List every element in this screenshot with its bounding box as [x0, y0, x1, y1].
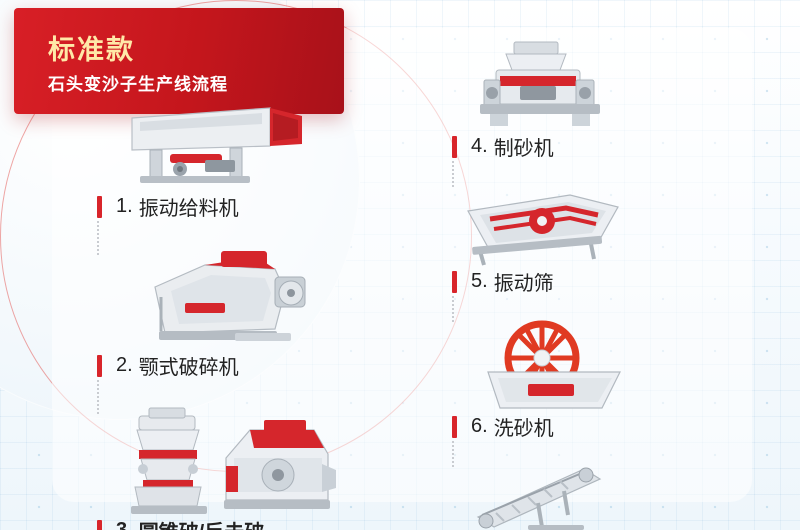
sand-washer-icon: [470, 320, 640, 412]
sand-making-machine-icon: [460, 40, 620, 132]
process-step-1[interactable]: 1. 振动给料机: [95, 100, 425, 221]
vibrating-feeder-image: [95, 100, 425, 192]
vibrating-screen-image: [450, 185, 780, 267]
process-step-1-label: 1. 振动给料机: [95, 192, 425, 221]
cone-crusher-icon: [113, 406, 223, 516]
step-4-text: 制砂机: [494, 132, 554, 161]
process-step-2[interactable]: 2. 颚式破碎机: [95, 247, 425, 380]
step-3-index: 3.: [116, 519, 133, 530]
process-step-5-label: 5. 振动筛: [450, 267, 780, 296]
process-step-4-label: 4. 制砂机: [450, 132, 780, 161]
flowchart-page: 标准款 石头变沙子生产线流程: [0, 0, 800, 530]
step-1-text: 振动给料机: [139, 192, 239, 221]
step-5-text: 振动筛: [494, 267, 554, 296]
step-1-index: 1.: [116, 195, 133, 218]
process-step-7[interactable]: 7. 输送机: [450, 463, 780, 530]
step-5-index: 5.: [471, 270, 488, 293]
connector-4-5: [452, 161, 454, 187]
process-step-6[interactable]: 6. 洗砂机: [450, 320, 780, 441]
process-step-5[interactable]: 5. 振动筛: [450, 185, 780, 296]
vibrating-screen-icon: [450, 185, 630, 267]
step-marker-1: [97, 196, 102, 218]
left-process-column: 1. 振动给料机: [95, 100, 425, 530]
step-4-index: 4.: [471, 135, 488, 158]
belt-conveyor-icon: [468, 463, 628, 530]
jaw-crusher-icon: [125, 247, 335, 351]
banner-title: 标准款: [48, 28, 135, 67]
sand-washer-image: [450, 320, 780, 412]
cone-impact-crusher-image: [95, 406, 425, 516]
step-6-text: 洗砂机: [494, 412, 554, 441]
step-marker-5: [452, 271, 457, 293]
connector-5-6: [452, 296, 454, 322]
title-banner: 标准款 石头变沙子生产线流程: [14, 8, 344, 114]
step-marker-6: [452, 416, 457, 438]
impact-crusher-icon: [210, 414, 340, 524]
right-process-column: 4. 制砂机: [450, 40, 780, 530]
sand-making-machine-image: [450, 40, 780, 132]
process-step-4[interactable]: 4. 制砂机: [450, 40, 780, 161]
step-2-text: 颚式破碎机: [139, 351, 239, 380]
belt-conveyor-image: [450, 463, 780, 530]
process-step-2-label: 2. 颚式破碎机: [95, 351, 425, 380]
step-marker-2: [97, 355, 102, 377]
step-marker-4: [452, 136, 457, 158]
banner-subtitle: 石头变沙子生产线流程: [48, 70, 228, 95]
vibrating-feeder-icon: [110, 100, 310, 192]
step-2-index: 2.: [116, 354, 133, 377]
jaw-crusher-image: [95, 247, 425, 351]
step-marker-3: [97, 520, 102, 530]
process-step-6-label: 6. 洗砂机: [450, 412, 780, 441]
process-step-3[interactable]: 3. 圆锥破/反击破: [95, 406, 425, 530]
step-6-index: 6.: [471, 415, 488, 438]
